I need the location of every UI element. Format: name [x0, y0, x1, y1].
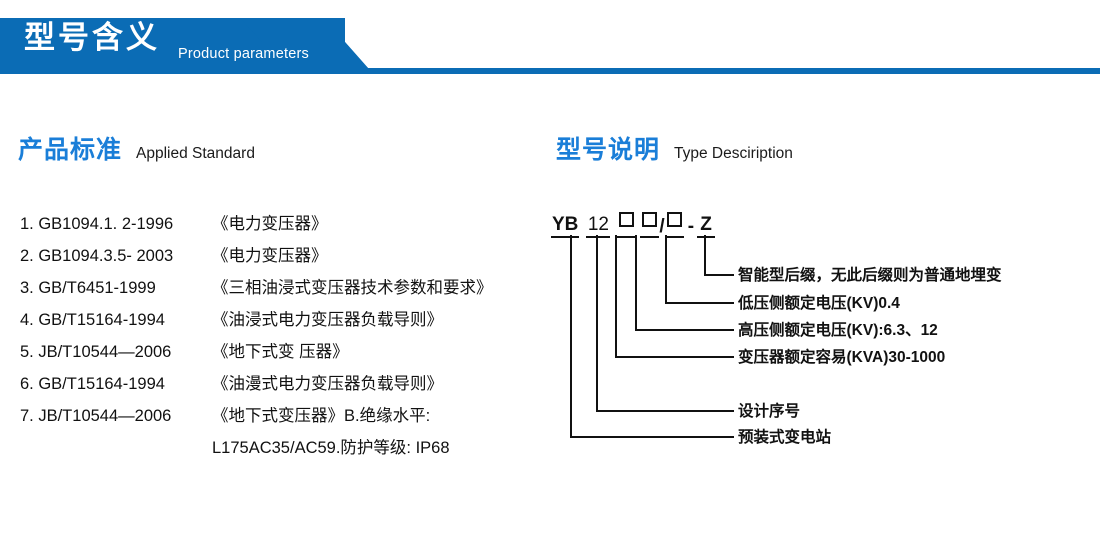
- standard-row: 4. GB/T15164-1994 《油浸式电力变压器负载导则》: [20, 304, 540, 336]
- description-label-high-voltage: 高压侧额定电压(KV):6.3、12: [738, 323, 938, 339]
- banner-title-en: Product parameters: [178, 47, 309, 62]
- standard-code: 6. GB/T15164-1994: [20, 368, 212, 400]
- leader-line-suffix: [705, 236, 733, 275]
- standard-code: 2. GB1094.3.5- 2003: [20, 240, 212, 272]
- standard-code: 5. JB/T10544—2006: [20, 336, 212, 368]
- standard-name: 《三相油浸式变压器技术参数和要求》: [212, 272, 493, 304]
- page-banner: 型号含义 Product parameters: [0, 0, 1100, 78]
- leader-line-box3: [666, 236, 733, 303]
- standard-row: 5. JB/T10544—2006 《地下式变 压器》: [20, 336, 540, 368]
- leader-line-prefix: [571, 236, 733, 437]
- code-segment-box2: [640, 212, 659, 238]
- code-segment-box1: [617, 212, 636, 238]
- standard-row: 1. GB1094.1. 2-1996 《电力变压器》: [20, 208, 540, 240]
- standard-name: 《电力变压器》: [212, 240, 328, 272]
- description-label-substation: 预装式变电站: [738, 430, 831, 446]
- model-code: YB 12 / - Z: [551, 212, 715, 238]
- leader-line-box2: [636, 236, 733, 330]
- standard-row: 6. GB/T15164-1994 《油漫式电力变压器负载导则》: [20, 368, 540, 400]
- standards-list: 1. GB1094.1. 2-1996 《电力变压器》 2. GB1094.3.…: [20, 208, 540, 464]
- standard-continuation-line: L175AC35/AC59.防护等级: IP68: [20, 432, 540, 464]
- standard-row: 2. GB1094.3.5- 2003 《电力变压器》: [20, 240, 540, 272]
- banner-shape: [0, 0, 1100, 78]
- type-description-heading-en: Type Desciription: [674, 146, 793, 162]
- standard-name: 《电力变压器》: [212, 208, 328, 240]
- placeholder-box-icon: [642, 212, 657, 227]
- standard-name: 《油漫式电力变压器负载导则》: [212, 368, 443, 400]
- banner-step-two: [0, 42, 1100, 74]
- description-label-suffix: 智能型后缀，无此后缀则为普通地埋变: [738, 268, 1002, 284]
- standard-name: 《地下式变压器》B.绝缘水平:: [212, 400, 430, 432]
- standard-code: 1. GB1094.1. 2-1996: [20, 208, 212, 240]
- code-segment-box3: [665, 212, 684, 238]
- leader-line-box1: [616, 236, 733, 357]
- leader-line-series: [597, 236, 733, 411]
- applied-standard-heading-en: Applied Standard: [136, 146, 255, 162]
- type-description-heading-cn: 型号说明: [556, 138, 660, 163]
- placeholder-box-icon: [619, 212, 634, 227]
- applied-standard-heading-cn: 产品标准: [18, 138, 122, 163]
- applied-standard-heading: 产品标准 Applied Standard: [18, 138, 255, 163]
- banner-title-cn: 型号含义: [24, 22, 160, 53]
- description-label-capacity: 变压器额定容易(KVA)30-1000: [738, 350, 945, 366]
- standard-row: 3. GB/T6451-1999 《三相油浸式变压器技术参数和要求》: [20, 272, 540, 304]
- placeholder-box-icon: [667, 212, 682, 227]
- standard-code: 4. GB/T15164-1994: [20, 304, 212, 336]
- standard-name: 《油浸式电力变压器负载导则》: [212, 304, 443, 336]
- standard-name: 《地下式变 压器》: [212, 336, 349, 368]
- standard-row: 7. JB/T10544—2006 《地下式变压器》B.绝缘水平:: [20, 400, 540, 432]
- code-segment-series: 12: [586, 215, 610, 238]
- standard-code: 3. GB/T6451-1999: [20, 272, 212, 304]
- code-segment-prefix: YB: [551, 215, 579, 238]
- type-description-heading: 型号说明 Type Desciription: [556, 138, 793, 163]
- description-label-design-serial: 设计序号: [738, 404, 800, 420]
- description-label-low-voltage: 低压侧额定电压(KV)0.4: [738, 296, 900, 312]
- code-segment-suffix: Z: [697, 215, 715, 238]
- code-dash: -: [688, 217, 694, 238]
- standard-code: 7. JB/T10544—2006: [20, 400, 212, 432]
